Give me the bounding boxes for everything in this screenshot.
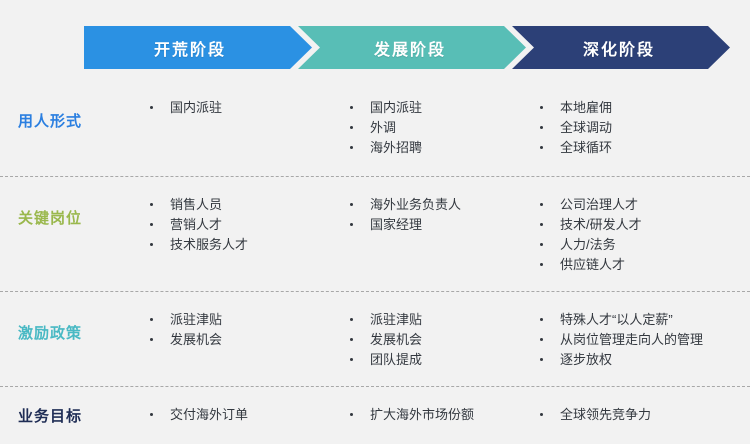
list-item: 全球领先竞争力 <box>532 405 750 425</box>
bullet-dot-icon <box>350 318 353 321</box>
bullet-dot-icon <box>350 223 353 226</box>
matrix-row-yongrenxingshi: 用人形式 国内派驻 国内派驻 外调 海外招聘 本地雇佣 <box>0 80 750 176</box>
bullet-dot-icon <box>540 203 543 206</box>
list-item: 海外业务负责人 <box>342 195 524 215</box>
list-item: 逐步放权 <box>532 350 750 370</box>
list-item-label: 发展机会 <box>170 332 222 347</box>
list-item-label: 人力/法务 <box>560 237 616 252</box>
bullet-list: 派驻津贴 发展机会 团队提成 <box>342 310 524 370</box>
list-item: 特殊人才“以人定薪” <box>532 310 750 330</box>
list-item: 销售人员 <box>142 195 334 215</box>
cell-yewumubiao-fazhan: 扩大海外市场份额 <box>334 405 524 425</box>
stage-matrix: 用人形式 国内派驻 国内派驻 外调 海外招聘 本地雇佣 <box>0 80 750 444</box>
cell-yewumubiao-kaihuang: 交付海外订单 <box>134 405 334 425</box>
list-item-label: 逐步放权 <box>560 352 612 367</box>
list-item: 国家经理 <box>342 215 524 235</box>
bullet-dot-icon <box>540 318 543 321</box>
matrix-row-cells: 派驻津贴 发展机会 派驻津贴 发展机会 团队提成 特殊人才“以人定薪” 从岗位管… <box>134 310 750 370</box>
list-item-label: 海外招聘 <box>370 140 422 155</box>
list-item: 供应链人才 <box>532 255 750 275</box>
stage-label-shenhua: 深化阶段 <box>583 36 655 60</box>
list-item: 派驻津贴 <box>142 310 334 330</box>
list-item-label: 全球循环 <box>560 140 612 155</box>
list-item: 外调 <box>342 118 524 138</box>
list-item-label: 全球领先竞争力 <box>560 407 651 422</box>
bullet-dot-icon <box>150 243 153 246</box>
bullet-dot-icon <box>540 338 543 341</box>
slide-canvas: 开荒阶段 发展阶段 深化阶段 用人形式 国内派驻 国内派驻 外调 <box>0 0 750 422</box>
bullet-list: 公司治理人才 技术/研发人才 人力/法务 供应链人才 <box>532 195 750 275</box>
list-item: 扩大海外市场份额 <box>342 405 524 425</box>
matrix-row-jilizhengce: 激励政策 派驻津贴 发展机会 派驻津贴 发展机会 团队提成 <box>0 291 750 386</box>
list-item-label: 海外业务负责人 <box>370 197 461 212</box>
row-label-yewumubiao: 业务目标 <box>0 405 134 426</box>
list-item-label: 国内派驻 <box>370 100 422 115</box>
list-item-label: 本地雇佣 <box>560 100 612 115</box>
cell-yewumubiao-shenhua: 全球领先竞争力 <box>524 405 750 425</box>
matrix-row-guanjiangangwei: 关键岗位 销售人员 营销人才 技术服务人才 海外业务负责人 国家经理 <box>0 176 750 291</box>
matrix-row-cells: 交付海外订单 扩大海外市场份额 全球领先竞争力 <box>134 405 750 425</box>
list-item: 发展机会 <box>342 330 524 350</box>
matrix-row-cells: 国内派驻 国内派驻 外调 海外招聘 本地雇佣 全球调动 全球循环 <box>134 98 750 158</box>
list-item: 人力/法务 <box>532 235 750 255</box>
bullet-dot-icon <box>150 203 153 206</box>
list-item: 国内派驻 <box>142 98 334 118</box>
bullet-list: 扩大海外市场份额 <box>342 405 524 425</box>
list-item: 国内派驻 <box>342 98 524 118</box>
row-label-guanjiangangwei: 关键岗位 <box>0 195 134 228</box>
row-label-jilizhengce: 激励政策 <box>0 310 134 343</box>
bullet-dot-icon <box>540 106 543 109</box>
bullet-dot-icon <box>540 358 543 361</box>
cell-yongrenxingshi-kaihuang: 国内派驻 <box>134 98 334 158</box>
bullet-list: 本地雇佣 全球调动 全球循环 <box>532 98 750 158</box>
list-item-label: 供应链人才 <box>560 257 625 272</box>
bullet-dot-icon <box>350 413 353 416</box>
bullet-dot-icon <box>350 126 353 129</box>
cell-yongrenxingshi-shenhua: 本地雇佣 全球调动 全球循环 <box>524 98 750 158</box>
bullet-dot-icon <box>150 106 153 109</box>
list-item: 技术服务人才 <box>142 235 334 255</box>
list-item: 发展机会 <box>142 330 334 350</box>
bullet-dot-icon <box>540 146 543 149</box>
bullet-dot-icon <box>350 358 353 361</box>
list-item-label: 交付海外订单 <box>170 407 248 422</box>
stage-arrow-kaihuang[interactable]: 开荒阶段 <box>84 26 312 69</box>
stage-arrow-band: 开荒阶段 发展阶段 深化阶段 <box>84 26 702 69</box>
list-item-label: 派驻津贴 <box>170 312 222 327</box>
list-item-label: 国内派驻 <box>170 100 222 115</box>
bullet-dot-icon <box>540 243 543 246</box>
bullet-list: 派驻津贴 发展机会 <box>142 310 334 350</box>
list-item-label: 外调 <box>370 120 396 135</box>
list-item-label: 营销人才 <box>170 217 222 232</box>
list-item: 全球调动 <box>532 118 750 138</box>
bullet-dot-icon <box>540 126 543 129</box>
bullet-list: 全球领先竞争力 <box>532 405 750 425</box>
stage-label-fazhan: 发展阶段 <box>374 36 446 60</box>
stage-label-kaihuang: 开荒阶段 <box>154 36 226 60</box>
bullet-dot-icon <box>350 338 353 341</box>
list-item: 本地雇佣 <box>532 98 750 118</box>
list-item: 技术/研发人才 <box>532 215 750 235</box>
bullet-list: 国内派驻 <box>142 98 334 118</box>
row-label-yongrenxingshi: 用人形式 <box>0 98 134 131</box>
list-item: 公司治理人才 <box>532 195 750 215</box>
list-item-label: 公司治理人才 <box>560 197 638 212</box>
list-item: 营销人才 <box>142 215 334 235</box>
bullet-dot-icon <box>350 106 353 109</box>
list-item-label: 特殊人才“以人定薪” <box>560 312 673 327</box>
list-item-label: 销售人员 <box>170 197 222 212</box>
list-item-label: 从岗位管理走向人的管理 <box>560 332 703 347</box>
list-item: 交付海外订单 <box>142 405 334 425</box>
bullet-list: 海外业务负责人 国家经理 <box>342 195 524 235</box>
list-item-label: 派驻津贴 <box>370 312 422 327</box>
bullet-dot-icon <box>350 203 353 206</box>
list-item-label: 全球调动 <box>560 120 612 135</box>
cell-guanjiangangwei-shenhua: 公司治理人才 技术/研发人才 人力/法务 供应链人才 <box>524 195 750 275</box>
list-item-label: 技术/研发人才 <box>560 217 642 232</box>
bullet-list: 交付海外订单 <box>142 405 334 425</box>
cell-guanjiangangwei-fazhan: 海外业务负责人 国家经理 <box>334 195 524 275</box>
cell-jilizhengce-kaihuang: 派驻津贴 发展机会 <box>134 310 334 370</box>
list-item: 海外招聘 <box>342 138 524 158</box>
bullet-dot-icon <box>540 223 543 226</box>
bullet-dot-icon <box>150 413 153 416</box>
list-item-label: 国家经理 <box>370 217 422 232</box>
stage-arrow-fazhan[interactable]: 发展阶段 <box>298 26 526 69</box>
list-item: 派驻津贴 <box>342 310 524 330</box>
cell-guanjiangangwei-kaihuang: 销售人员 营销人才 技术服务人才 <box>134 195 334 275</box>
list-item-label: 团队提成 <box>370 352 422 367</box>
bullet-dot-icon <box>150 318 153 321</box>
bullet-dot-icon <box>350 146 353 149</box>
matrix-row-yewumubiao: 业务目标 交付海外订单 扩大海外市场份额 全球领先竞争力 <box>0 386 750 444</box>
cell-yongrenxingshi-fazhan: 国内派驻 外调 海外招聘 <box>334 98 524 158</box>
list-item: 全球循环 <box>532 138 750 158</box>
stage-arrow-shenhua[interactable]: 深化阶段 <box>512 26 730 69</box>
bullet-dot-icon <box>540 413 543 416</box>
bullet-dot-icon <box>150 223 153 226</box>
cell-jilizhengce-shenhua: 特殊人才“以人定薪” 从岗位管理走向人的管理 逐步放权 <box>524 310 750 370</box>
list-item-label: 扩大海外市场份额 <box>370 407 474 422</box>
matrix-row-cells: 销售人员 营销人才 技术服务人才 海外业务负责人 国家经理 公司治理人才 技术/… <box>134 195 750 275</box>
bullet-list: 特殊人才“以人定薪” 从岗位管理走向人的管理 逐步放权 <box>532 310 750 370</box>
cell-jilizhengce-fazhan: 派驻津贴 发展机会 团队提成 <box>334 310 524 370</box>
list-item-label: 发展机会 <box>370 332 422 347</box>
bullet-dot-icon <box>540 263 543 266</box>
list-item: 团队提成 <box>342 350 524 370</box>
list-item: 从岗位管理走向人的管理 <box>532 330 750 350</box>
bullet-dot-icon <box>150 338 153 341</box>
bullet-list: 国内派驻 外调 海外招聘 <box>342 98 524 158</box>
bullet-list: 销售人员 营销人才 技术服务人才 <box>142 195 334 255</box>
list-item-label: 技术服务人才 <box>170 237 248 252</box>
